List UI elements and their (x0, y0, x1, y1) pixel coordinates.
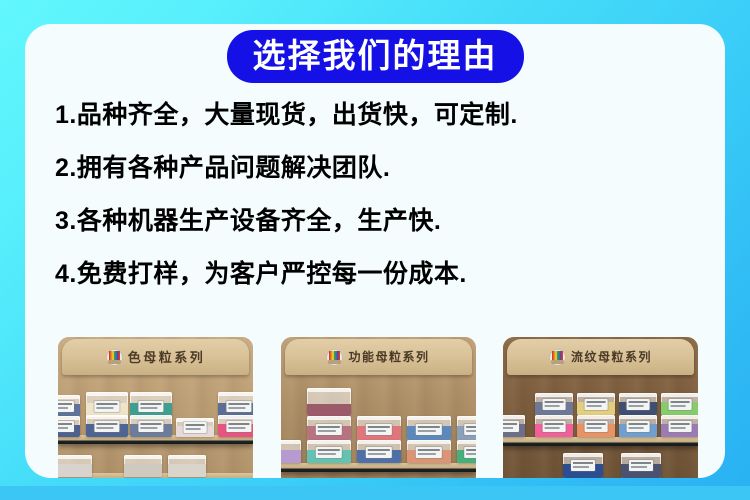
pellet-box (58, 455, 92, 477)
pellet-box (307, 440, 351, 463)
pellet-box (58, 416, 80, 437)
pellet-box (563, 453, 603, 478)
title-badge: 选择我们的理由 (227, 30, 524, 83)
product-photo-3: 流纹母粒系列 (503, 337, 698, 478)
pellet-box (357, 416, 401, 440)
pellet-box (124, 455, 162, 477)
pellet-box (535, 415, 573, 437)
bottom-accent-strip (0, 486, 750, 500)
pellet-box (307, 388, 351, 416)
pellet-box (58, 395, 80, 417)
feature-item-4: 4.免费打样，为客户严控每一份成本. (55, 262, 695, 287)
pellet-box (619, 393, 657, 415)
shelf-sign-3: 流纹母粒系列 (507, 339, 694, 375)
pellet-box (619, 415, 657, 437)
pellet-box (535, 393, 573, 415)
shelf-sign-label-1: 色母粒系列 (128, 351, 206, 364)
pellet-box (457, 440, 476, 463)
rainbow-circle-logo-icon (106, 349, 123, 366)
pellet-box (357, 440, 401, 463)
promo-poster: 选择我们的理由 1.品种齐全，大量现货，出货快，可定制. 2.拥有各种产品问题解… (0, 0, 750, 500)
feature-list: 1.品种齐全，大量现货，出货快，可定制. 2.拥有各种产品问题解决团队. 3.各… (55, 103, 695, 287)
pellet-box (176, 418, 214, 437)
product-photo-1: 色母粒系列 (58, 337, 253, 478)
pellet-box (130, 392, 172, 417)
pellet-box (168, 455, 206, 477)
feature-item-2: 2.拥有各种产品问题解决团队. (55, 156, 695, 181)
pellet-box (621, 453, 661, 478)
pellet-box (457, 416, 476, 440)
rainbow-circle-logo-icon (549, 349, 566, 366)
rainbow-circle-logo-icon (326, 349, 343, 366)
pellet-box (218, 415, 253, 437)
shelf-sign-1: 色母粒系列 (62, 339, 249, 375)
pellet-box (577, 415, 615, 437)
content-card: 选择我们的理由 1.品种齐全，大量现货，出货快，可定制. 2.拥有各种产品问题解… (25, 24, 725, 478)
pellet-box (661, 393, 698, 415)
page-title: 选择我们的理由 (25, 30, 725, 83)
product-photo-2: 功能母粒系列 (281, 337, 476, 478)
feature-item-1: 1.品种齐全，大量现货，出货快，可定制. (55, 103, 695, 128)
pellet-box (407, 416, 451, 440)
pellet-box (130, 415, 172, 437)
shelf-board (503, 437, 698, 446)
pellet-box (218, 392, 253, 417)
pellet-box (407, 440, 451, 463)
pellet-box (661, 415, 698, 437)
feature-item-3: 3.各种机器生产设备齐全，生产快. (55, 209, 695, 234)
shelf-sign-2: 功能母粒系列 (285, 339, 472, 375)
pellet-box (86, 392, 128, 417)
pellet-box (281, 440, 301, 463)
shelf-sign-label-2: 功能母粒系列 (348, 351, 429, 363)
pellet-box (86, 415, 128, 437)
pellet-box (503, 415, 525, 437)
pellet-box (307, 416, 351, 440)
pellet-box (577, 393, 615, 415)
product-photo-row: 色母粒系列 (58, 337, 698, 478)
shelf-sign-label-3: 流纹母粒系列 (571, 351, 652, 363)
shelf-board (281, 463, 476, 472)
